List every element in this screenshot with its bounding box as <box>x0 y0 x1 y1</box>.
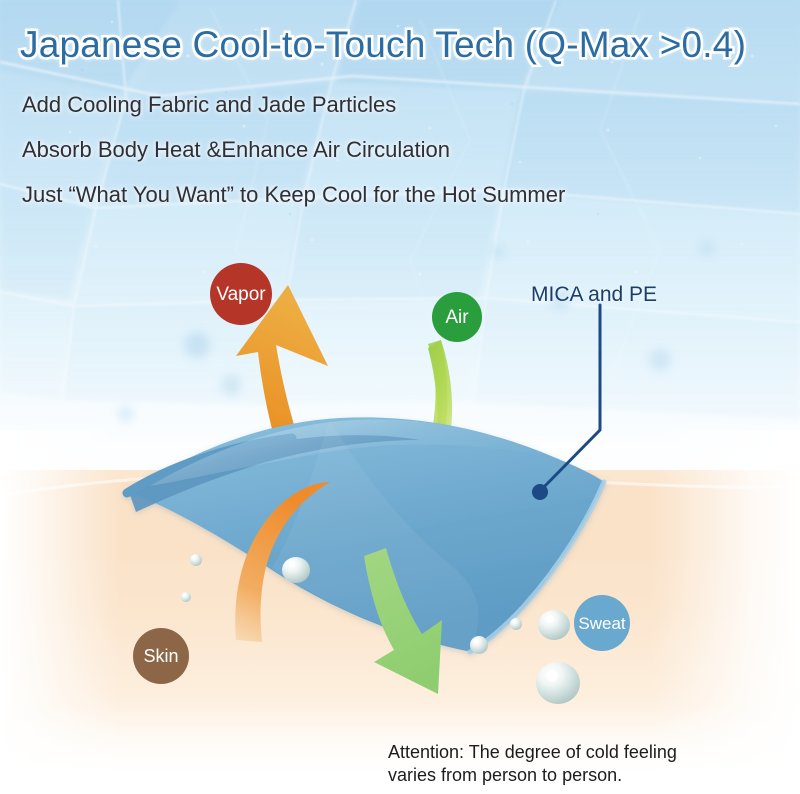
attention-note-line-2: varies from person to person. <box>388 764 677 787</box>
callout-anchor-dot <box>532 484 548 500</box>
badge-vapor-label: Vapor <box>216 285 265 304</box>
attention-note: Attention: The degree of cold feeling va… <box>388 741 677 787</box>
subtitle-line-3: Just “What You Want” to Keep Cool for th… <box>22 182 565 208</box>
callout-label: MICA and PE <box>531 283 657 307</box>
attention-note-line-1: Attention: The degree of cold feeling <box>388 741 677 764</box>
badge-air: Air <box>432 292 482 342</box>
badge-sweat-label: Sweat <box>578 615 625 632</box>
page-title: Japanese Cool-to-Touch Tech (Q-Max >0.4) <box>20 24 746 66</box>
fabric-sheet <box>127 417 604 652</box>
subtitle-line-2: Absorb Body Heat &Enhance Air Circulatio… <box>22 137 450 163</box>
badge-air-label: Air <box>445 308 468 327</box>
subtitle-line-1: Add Cooling Fabric and Jade Particles <box>22 92 396 118</box>
badge-skin: Skin <box>133 628 189 684</box>
badge-vapor: Vapor <box>210 263 272 325</box>
poster-root: Japanese Cool-to-Touch Tech (Q-Max >0.4)… <box>0 0 800 794</box>
badge-skin-label: Skin <box>143 647 178 665</box>
badge-sweat: Sweat <box>574 595 630 651</box>
